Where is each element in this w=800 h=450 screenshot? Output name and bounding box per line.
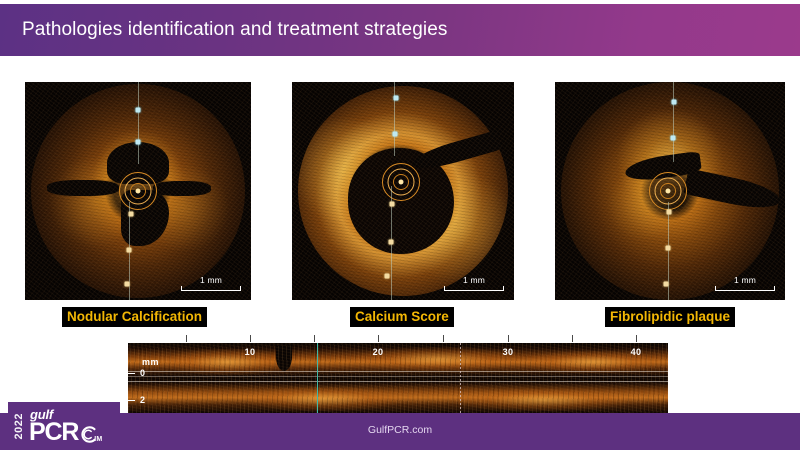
- lmode-y-label-0: 0: [140, 368, 146, 378]
- scale-bar-label: 1 mm: [463, 275, 485, 285]
- lmode-tick: [636, 335, 637, 342]
- footer-url: GulfPCR.com: [0, 424, 800, 436]
- lmode-tick: [508, 335, 509, 342]
- caption-nodular-calcification: Nodular Calcification: [62, 307, 207, 327]
- scale-bar-label: 1 mm: [200, 275, 222, 285]
- measurement-marker[interactable]: [136, 108, 141, 113]
- logo-pcr-row: PCR IM: [29, 422, 102, 443]
- scale-bar-rule: [715, 286, 775, 291]
- measurement-line-upper[interactable]: [673, 82, 674, 162]
- lmode-x-label-20: 20: [373, 347, 384, 357]
- measurement-marker[interactable]: [385, 274, 390, 279]
- measurement-marker[interactable]: [666, 246, 671, 251]
- oct-image-fibrolipidic-plaque: 1 mm: [555, 82, 785, 300]
- slide-footer: GulfPCR.com: [0, 413, 800, 450]
- measurement-marker[interactable]: [667, 210, 672, 215]
- gulfpcr-logo: 2022 gulf PCR IM: [8, 402, 120, 450]
- measurement-marker[interactable]: [127, 248, 132, 253]
- caption-fibrolipidic-plaque: Fibrolipidic plaque: [605, 307, 735, 327]
- plaque-shadow: [47, 180, 119, 196]
- catheter-core: [136, 189, 141, 194]
- slide-canvas: Pathologies identification and treatment…: [0, 0, 800, 450]
- lmode-cursor-reference[interactable]: [460, 343, 461, 413]
- lmode-y-tick: [128, 373, 135, 374]
- lmode-y-label-2: 2: [140, 395, 146, 405]
- lmode-ruler: [128, 343, 668, 344]
- measurement-line-upper[interactable]: [394, 82, 395, 156]
- oct-image-calcium-score: 1 mm: [292, 82, 514, 300]
- page-title: Pathologies identification and treatment…: [0, 19, 447, 41]
- lmode-x-label-10: 10: [245, 347, 256, 357]
- oct-image-nodular-calcification: 1 mm: [25, 82, 251, 300]
- scale-bar-rule: [444, 286, 504, 291]
- measurement-line-upper[interactable]: [138, 82, 139, 164]
- slide-title-bar: Pathologies identification and treatment…: [0, 4, 800, 56]
- logo-pcr-text: PCR: [29, 422, 78, 443]
- lmode-unit-label: mm: [142, 357, 159, 367]
- lmode-x-label-40: 40: [631, 347, 642, 357]
- measurement-marker[interactable]: [393, 132, 398, 137]
- lmode-tick: [250, 335, 251, 342]
- lmode-tick: [572, 335, 573, 342]
- measurement-marker[interactable]: [136, 140, 141, 145]
- lmode-x-label-30: 30: [503, 347, 514, 357]
- lmode-tick: [378, 335, 379, 342]
- lmode-tick: [186, 335, 187, 342]
- scale-bar-rule: [181, 286, 241, 291]
- scale-bar: 1 mm: [181, 275, 241, 291]
- catheter-core: [398, 180, 403, 185]
- scale-bar: 1 mm: [715, 275, 775, 291]
- catheter-core: [665, 189, 670, 194]
- lmode-guide-line: [128, 381, 668, 382]
- measurement-marker[interactable]: [125, 282, 130, 287]
- measurement-marker[interactable]: [129, 212, 134, 217]
- measurement-marker[interactable]: [664, 282, 669, 287]
- oct-longitudinal-view: mm 0 2 10 20 30 40: [128, 343, 668, 413]
- logo-circle-c-icon: [79, 425, 98, 444]
- caption-calcium-score: Calcium Score: [350, 307, 454, 327]
- measurement-marker[interactable]: [671, 136, 676, 141]
- lmode-y-tick: [128, 400, 135, 401]
- measurement-marker[interactable]: [394, 96, 399, 101]
- speckle-texture: [128, 343, 668, 413]
- catheter-rings: [118, 171, 158, 211]
- measurement-marker[interactable]: [390, 202, 395, 207]
- logo-wordmark: gulf PCR IM: [29, 408, 102, 443]
- lmode-cursor-frame[interactable]: [317, 343, 318, 413]
- lmode-tick: [443, 335, 444, 342]
- plaque-shadow: [153, 181, 211, 196]
- logo-year: 2022: [14, 413, 25, 439]
- lmode-guide-line: [128, 371, 668, 372]
- lmode-tick: [314, 335, 315, 342]
- measurement-marker[interactable]: [389, 240, 394, 245]
- lmode-guide-line: [128, 376, 668, 377]
- scale-bar: 1 mm: [444, 275, 504, 291]
- scale-bar-label: 1 mm: [734, 275, 756, 285]
- catheter-rings: [381, 162, 421, 202]
- measurement-marker[interactable]: [672, 100, 677, 105]
